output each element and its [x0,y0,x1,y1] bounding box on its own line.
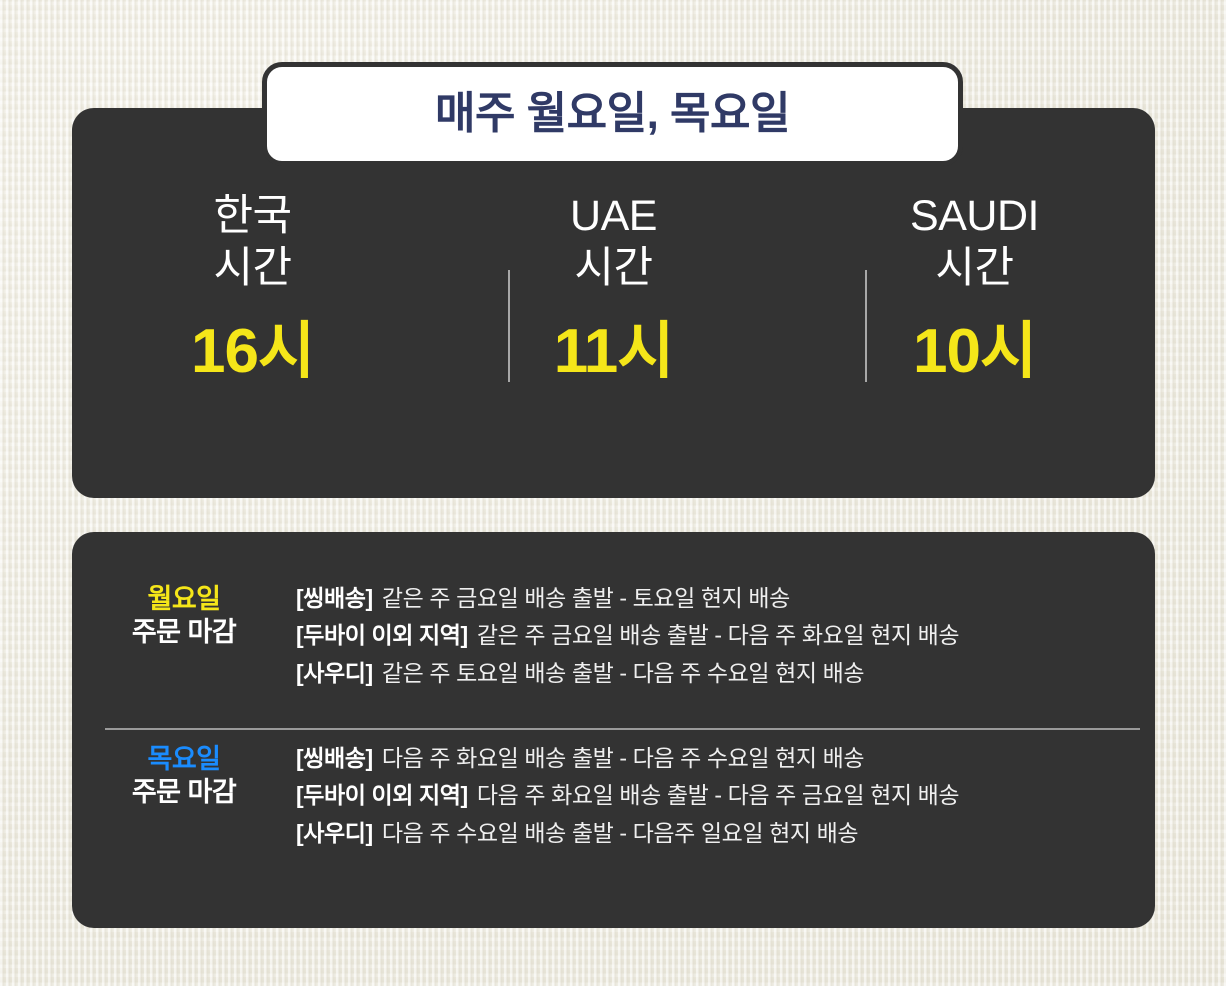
schedule-line-monday-2: [두바이 이외 지역]같은 주 금요일 배송 출발 - 다음 주 화요일 현지 … [296,617,1155,654]
timezone-time-saudi: 10시 [913,321,1036,383]
schedule-day-label-monday: 월요일 주문 마감 [72,580,296,650]
timezone-region-saudi: SAUDI 시간 [910,190,1039,295]
schedule-text-thursday-2: 다음 주 화요일 배송 출발 - 다음 주 금요일 현지 배송 [477,782,959,808]
schedule-tag-thursday-1: [씽배송] [296,745,373,771]
timezone-region-korea-line2: 시간 [213,244,291,292]
schedule-line-thursday-2: [두바이 이외 지역]다음 주 화요일 배송 출발 - 다음 주 금요일 현지 … [296,777,1155,814]
timezone-column-uae: UAE 시간 11시 [433,190,794,383]
schedule-day-sub-thursday: 주문 마감 [72,776,296,810]
timezone-column-korea: 한국 시간 16시 [72,190,433,383]
schedule-group-thursday: 목요일 주문 마감 [씽배송]다음 주 화요일 배송 출발 - 다음 주 수요일… [72,740,1155,852]
timezone-region-uae-line1: UAE [570,192,657,240]
title-card: 매주 월요일, 목요일 [262,62,963,166]
timezone-region-uae-line2: 시간 [574,244,652,292]
schedule-tag-thursday-3: [사우디] [296,820,373,846]
schedule-tag-monday-2: [두바이 이외 지역] [296,622,468,648]
schedule-lines-thursday: [씽배송]다음 주 화요일 배송 출발 - 다음 주 수요일 현지 배송 [두바… [296,740,1155,852]
schedule-text-thursday-3: 다음 주 수요일 배송 출발 - 다음주 일요일 현지 배송 [382,820,858,846]
schedule-text-monday-1: 같은 주 금요일 배송 출발 - 토요일 현지 배송 [382,585,790,611]
schedule-line-monday-1: [씽배송]같은 주 금요일 배송 출발 - 토요일 현지 배송 [296,580,1155,617]
timezone-column-saudi: SAUDI 시간 10시 [794,190,1155,383]
schedule-tag-thursday-2: [두바이 이외 지역] [296,782,468,808]
schedule-lines-monday: [씽배송]같은 주 금요일 배송 출발 - 토요일 현지 배송 [두바이 이외 … [296,580,1155,692]
schedule-group-monday: 월요일 주문 마감 [씽배송]같은 주 금요일 배송 출발 - 토요일 현지 배… [72,580,1155,692]
infographic-stage: 한국 시간 16시 UAE 시간 11시 SAUDI 시간 10시 매주 월요일… [0,0,1226,986]
schedule-day-name-thursday: 목요일 [72,744,296,776]
timezone-divider-1 [508,270,510,382]
schedule-line-thursday-3: [사우디]다음 주 수요일 배송 출발 - 다음주 일요일 현지 배송 [296,815,1155,852]
schedule-tag-monday-1: [씽배송] [296,585,373,611]
timezone-columns: 한국 시간 16시 UAE 시간 11시 SAUDI 시간 10시 [72,190,1155,470]
schedule-line-monday-3: [사우디]같은 주 토요일 배송 출발 - 다음 주 수요일 현지 배송 [296,655,1155,692]
timezone-region-korea: 한국 시간 [213,190,291,295]
timezone-divider-2 [865,270,867,382]
schedule-text-thursday-1: 다음 주 화요일 배송 출발 - 다음 주 수요일 현지 배송 [382,745,864,771]
schedule-day-name-monday: 월요일 [72,584,296,616]
schedule-day-sub-monday: 주문 마감 [72,616,296,650]
schedule-panel: 월요일 주문 마감 [씽배송]같은 주 금요일 배송 출발 - 토요일 현지 배… [72,532,1155,928]
schedule-text-monday-3: 같은 주 토요일 배송 출발 - 다음 주 수요일 현지 배송 [382,660,864,686]
schedule-day-label-thursday: 목요일 주문 마감 [72,740,296,810]
page-title: 매주 월요일, 목요일 [435,92,790,136]
timezone-region-saudi-line1: SAUDI [910,192,1039,240]
schedule-text-monday-2: 같은 주 금요일 배송 출발 - 다음 주 화요일 현지 배송 [477,622,959,648]
timezone-time-uae: 11시 [554,321,674,383]
schedule-row-divider [105,728,1140,730]
timezone-region-korea-line1: 한국 [213,192,291,240]
timezone-time-korea: 16시 [191,321,314,383]
schedule-line-thursday-1: [씽배송]다음 주 화요일 배송 출발 - 다음 주 수요일 현지 배송 [296,740,1155,777]
timezone-region-uae: UAE 시간 [570,190,657,295]
timezone-region-saudi-line2: 시간 [935,244,1013,292]
schedule-tag-monday-3: [사우디] [296,660,373,686]
